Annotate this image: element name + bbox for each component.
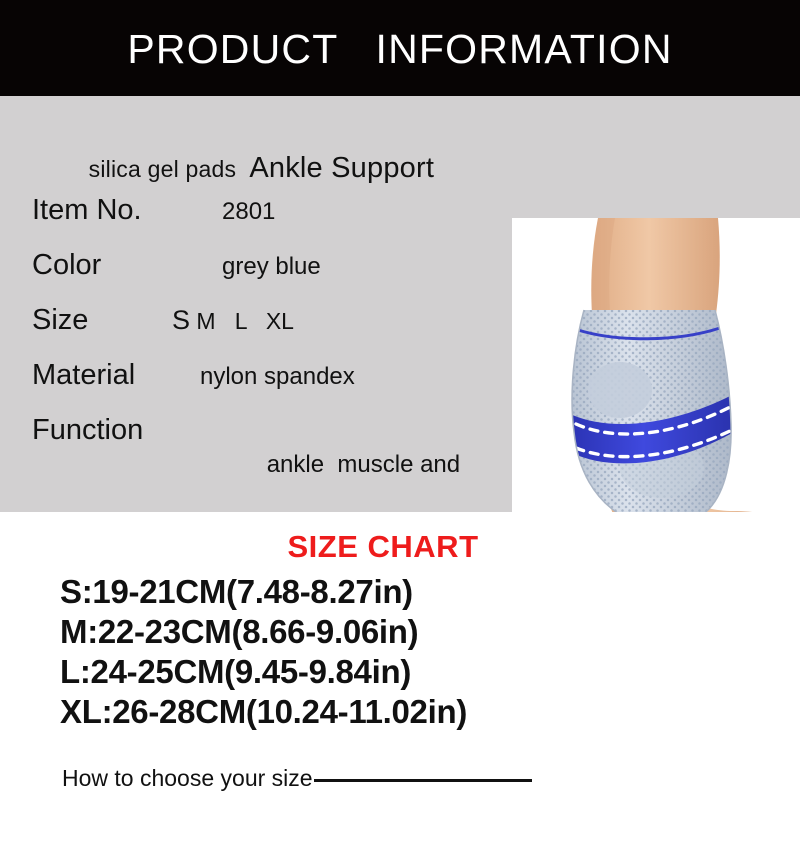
spec-label-material: Material: [32, 357, 135, 393]
size-chart-list: S:19-21CM(7.48-8.27in) M:22-23CM(8.66-9.…: [60, 574, 540, 734]
size-chart-title: SIZE CHART: [270, 529, 496, 565]
spec-value-material: nylon spandex: [200, 360, 355, 394]
product-information-page: PRODUCT INFORMATION silica gel pads Ankl…: [0, 0, 800, 843]
spec-label-item-no: Item No.: [32, 192, 142, 228]
spec-label-function: Function: [32, 412, 143, 448]
spec-row-material: Material nylon spandex: [0, 357, 512, 412]
spec-row-item-no: Item No. 2801: [0, 192, 512, 247]
spec-row-function: Function ankle muscle and ligament prote…: [0, 412, 512, 467]
size-line-s: S:19-21CM(7.48-8.27in): [60, 574, 540, 610]
size-line-l: L:24-25CM(9.45-9.84in): [60, 654, 540, 690]
page-header: PRODUCT INFORMATION: [0, 0, 800, 96]
spec-label-size: Size: [32, 302, 88, 338]
size-line-xl: XL:26-28CM(10.24-11.02in): [60, 694, 540, 730]
size-options-rest: M L XL: [190, 308, 294, 334]
product-heading-sub: silica gel pads: [89, 156, 236, 182]
size-chart-section: SIZE CHART S:19-21CM(7.48-8.27in) M:22-2…: [0, 512, 800, 843]
specification-panel: silica gel pads Ankle Support Item No. 2…: [0, 96, 800, 512]
how-to-choose-size-label: How to choose your size: [62, 765, 313, 791]
spec-value-color: grey blue: [222, 250, 321, 284]
product-heading-main: Ankle Support: [249, 152, 434, 184]
spec-table: Item No. 2801 Color grey blue Size S M L…: [0, 192, 512, 467]
size-option-s: S: [172, 305, 190, 335]
spec-label-color: Color: [32, 247, 101, 283]
spec-value-item-no: 2801: [222, 195, 275, 229]
spec-value-size: S M L XL: [172, 303, 294, 339]
size-line-m: M:22-23CM(8.66-9.06in): [60, 614, 540, 650]
pointer-rule: [314, 779, 532, 782]
page-title: PRODUCT INFORMATION: [0, 25, 800, 73]
spec-value-function-line1: ankle muscle and: [267, 451, 460, 478]
spec-row-color: Color grey blue: [0, 247, 512, 302]
spec-row-size: Size S M L XL: [0, 302, 512, 357]
how-to-choose-size: How to choose your size: [62, 765, 532, 791]
